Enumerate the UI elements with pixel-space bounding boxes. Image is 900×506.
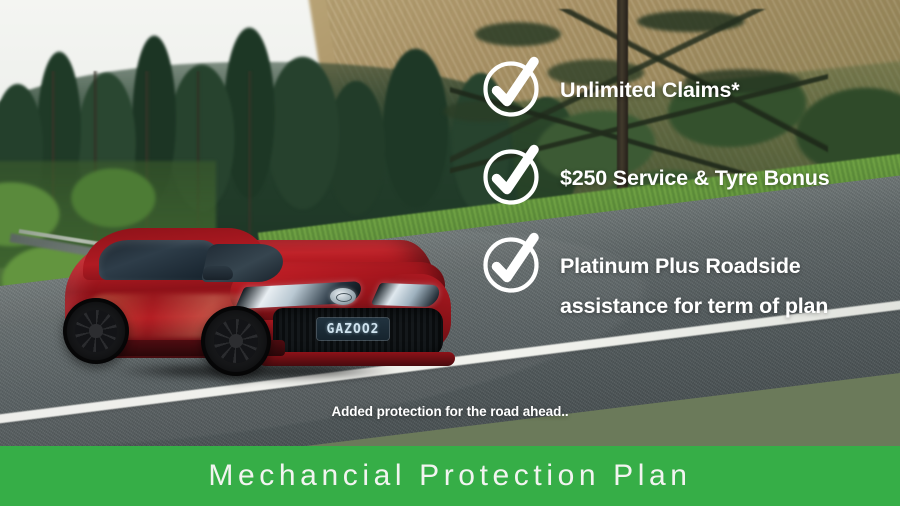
rear-wheel bbox=[63, 298, 129, 364]
front-wheel-hub bbox=[229, 334, 243, 348]
footer-bar: Mechancial Protection Plan bbox=[0, 446, 900, 506]
car-illustration: GAZOO2 bbox=[55, 222, 455, 397]
side-window bbox=[99, 240, 219, 280]
tagline: Added protection for the road ahead.. bbox=[0, 404, 900, 419]
feature-item: Unlimited Claims* bbox=[482, 64, 886, 117]
wing-mirror bbox=[203, 266, 233, 280]
feature-label: $250 Service & Tyre Bonus bbox=[560, 152, 829, 198]
mechanical-protection-plan-banner: GAZOO2 Unlimited Claims* bbox=[0, 0, 900, 506]
check-circle-icon bbox=[482, 147, 540, 205]
headlight-right bbox=[371, 283, 444, 307]
feature-item: $250 Service & Tyre Bonus bbox=[482, 152, 886, 205]
toyota-badge-icon bbox=[330, 288, 356, 305]
front-splitter bbox=[255, 352, 455, 366]
check-circle-icon bbox=[482, 235, 540, 293]
feature-label-line1: Unlimited Claims* bbox=[560, 78, 739, 102]
feature-item: Platinum Plus Roadside assistance for te… bbox=[482, 240, 886, 326]
feature-list: Unlimited Claims* $250 Service & Tyre Bo… bbox=[482, 64, 886, 326]
feature-label-line2: assistance for term of plan bbox=[560, 286, 828, 326]
check-circle-icon bbox=[482, 59, 540, 117]
footer-title: Mechancial Protection Plan bbox=[208, 459, 691, 493]
rear-wheel-hub bbox=[89, 324, 102, 337]
feature-label-line1: $250 Service & Tyre Bonus bbox=[560, 166, 829, 190]
front-wheel bbox=[201, 306, 271, 376]
feature-label: Unlimited Claims* bbox=[560, 64, 739, 110]
license-plate-text: GAZOO2 bbox=[327, 322, 380, 337]
feature-label: Platinum Plus Roadside assistance for te… bbox=[560, 240, 828, 326]
license-plate: GAZOO2 bbox=[317, 318, 389, 340]
feature-label-line1: Platinum Plus Roadside bbox=[560, 254, 801, 278]
